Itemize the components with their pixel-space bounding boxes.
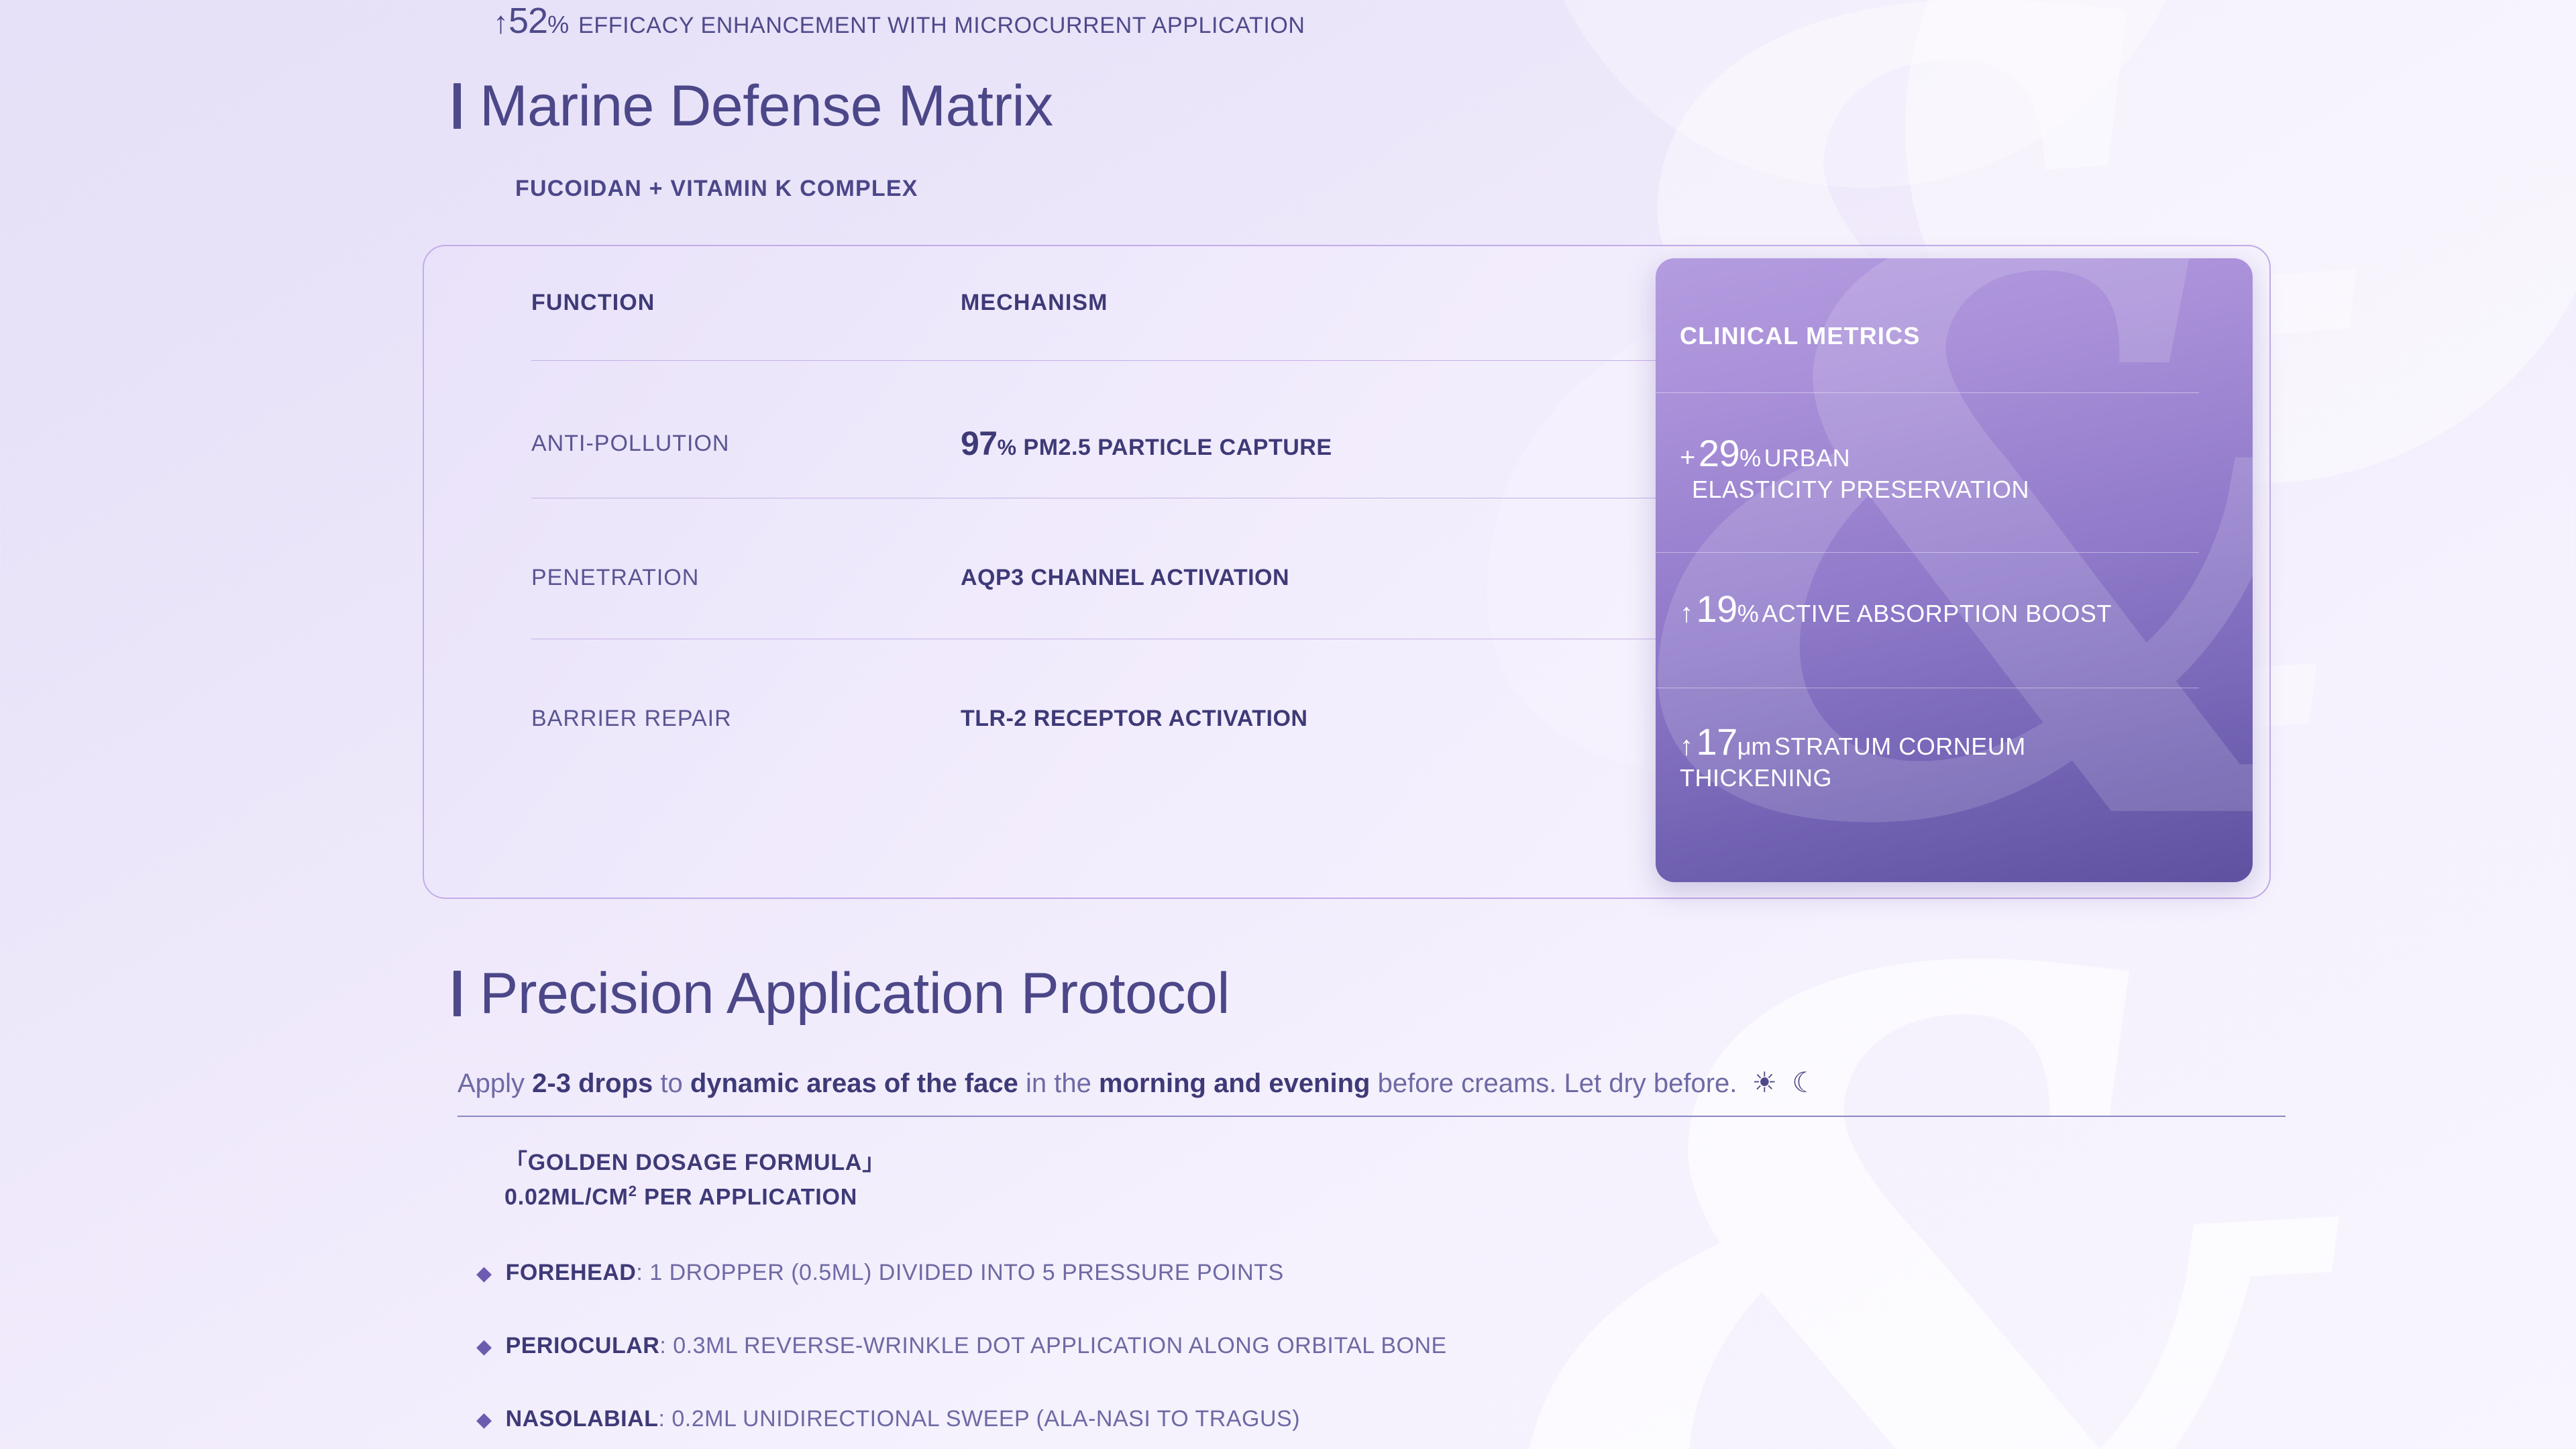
matrix-subtitle: FUCOIDAN + VITAMIN K COMPLEX	[515, 176, 918, 202]
instruction-part3: in the	[1018, 1069, 1099, 1098]
sun-icon: ☀	[1752, 1067, 1777, 1098]
list-item: ◆ FOREHEAD: 1 DROPPER (0.5ML) DIVIDED IN…	[476, 1260, 2288, 1286]
list-item: ◆ PERIOCULAR: 0.3ML REVERSE-WRINKLE DOT …	[476, 1333, 2288, 1359]
column-header-function: FUNCTION	[531, 290, 655, 315]
row-mechanism-text: PM2.5 PARTICLE CAPTURE	[1024, 435, 1332, 460]
diamond-bullet-icon: ◆	[476, 1264, 492, 1284]
metric-label-line2: THICKENING	[1680, 764, 2223, 792]
column-header-mechanism: MECHANISM	[961, 290, 1108, 315]
list-item-label: PERIOCULAR	[506, 1333, 660, 1358]
row-mechanism-value: 97	[961, 425, 998, 462]
row-function-label: PENETRATION	[531, 565, 699, 590]
metric-label: ACTIVE ABSORPTION BOOST	[1762, 600, 2112, 627]
metric-label: URBAN	[1764, 444, 1851, 472]
list-item-label: NASOLABIAL	[506, 1406, 659, 1432]
moon-icon: ☾	[1792, 1067, 1817, 1098]
list-item-text: : 0.3ML REVERSE-WRINKLE DOT APPLICATION …	[659, 1333, 1446, 1358]
metric-unit: %	[1737, 600, 1759, 627]
accent-bar-icon	[453, 83, 461, 129]
dosage-value-prefix: 0.02ML/CM	[504, 1184, 629, 1210]
instruction-bold-area: dynamic areas of the face	[690, 1069, 1018, 1098]
dosage-value-superscript: 2	[629, 1183, 637, 1199]
instruction-part4: before creams. Let dry before.	[1370, 1069, 1737, 1098]
panel-divider	[1656, 552, 2199, 553]
panel-divider	[1656, 688, 2199, 688]
metric-unit: μm	[1737, 733, 1772, 760]
top-efficacy-stat: ↑ 52 % EFFICACY ENHANCEMENT WITH MICROCU…	[493, 0, 1305, 42]
metric-label: STRATUM CORNEUM	[1774, 733, 2026, 760]
metric-value: 17	[1696, 720, 1737, 763]
matrix-title: Marine Defense Matrix	[480, 77, 1053, 135]
application-zone-list: ◆ FOREHEAD: 1 DROPPER (0.5ML) DIVIDED IN…	[476, 1260, 2288, 1449]
top-stat-unit: %	[547, 11, 569, 39]
protocol-instruction: Apply 2-3 drops to dynamic areas of the …	[458, 1065, 2286, 1117]
list-item-text: : 1 DROPPER (0.5ML) DIVIDED INTO 5 PRESS…	[636, 1260, 1283, 1285]
clinical-metrics-panel: & CLINICAL METRICS + 29% URBAN ELASTICIT…	[1656, 258, 2253, 882]
metric-value: 29	[1699, 432, 1739, 474]
metric-item: ↑ 19% ACTIVE ABSORPTION BOOST	[1680, 587, 2223, 631]
metric-label-line2: ELASTICITY PRESERVATION	[1692, 476, 2223, 504]
metric-sign-icon: ↑	[1680, 731, 1693, 761]
list-item: ◆ NASOLABIAL: 0.2ML UNIDIRECTIONAL SWEEP…	[476, 1406, 2288, 1432]
golden-dosage-formula: 「GOLDEN DOSAGE FORMULA」 0.02ML/CM2 PER A…	[504, 1146, 885, 1214]
row-mechanism-label: TLR-2 RECEPTOR ACTIVATION	[961, 706, 1307, 731]
accent-bar-icon	[453, 971, 461, 1016]
dosage-value-suffix: PER APPLICATION	[637, 1184, 857, 1210]
metric-item: + 29% URBAN ELASTICITY PRESERVATION	[1680, 431, 2223, 504]
matrix-section-heading: Marine Defense Matrix	[453, 77, 1053, 135]
row-mechanism-label: 97% PM2.5 PARTICLE CAPTURE	[961, 435, 1332, 460]
list-item-text: : 0.2ML UNIDIRECTIONAL SWEEP (ALA-NASI T…	[658, 1406, 1300, 1432]
row-function-label: BARRIER REPAIR	[531, 706, 732, 731]
protocol-title: Precision Application Protocol	[480, 965, 1230, 1022]
protocol-section-heading: Precision Application Protocol	[453, 965, 1230, 1022]
list-item-label: FOREHEAD	[506, 1260, 637, 1285]
metrics-panel-title: CLINICAL METRICS	[1680, 322, 1921, 350]
metric-item: ↑ 17μm STRATUM CORNEUM THICKENING	[1680, 720, 2223, 793]
diamond-bullet-icon: ◆	[476, 1410, 492, 1430]
metric-sign-icon: ↑	[1680, 598, 1693, 628]
dosage-value: 0.02ML/CM2 PER APPLICATION	[504, 1180, 885, 1214]
metric-sign-icon: +	[1680, 443, 1695, 472]
page-root: ↑ 52 % EFFICACY ENHANCEMENT WITH MICROCU…	[0, 0, 2576, 1449]
dosage-title: 「GOLDEN DOSAGE FORMULA」	[504, 1146, 885, 1180]
panel-divider	[1656, 392, 2199, 393]
row-mechanism-unit: %	[998, 435, 1017, 460]
instruction-bold-time: morning and evening	[1099, 1069, 1370, 1098]
top-stat-value: 52	[508, 0, 547, 42]
metric-unit: %	[1739, 444, 1761, 472]
instruction-part1: Apply	[458, 1069, 532, 1098]
top-stat-label: EFFICACY ENHANCEMENT WITH MICROCURRENT A…	[578, 13, 1305, 39]
row-function-label: ANTI-POLLUTION	[531, 431, 729, 456]
diamond-bullet-icon: ◆	[476, 1337, 492, 1357]
instruction-bold-dose: 2-3 drops	[532, 1069, 653, 1098]
instruction-part2: to	[653, 1069, 690, 1098]
metric-value: 19	[1696, 588, 1737, 630]
up-arrow-icon: ↑	[493, 7, 508, 38]
row-mechanism-label: AQP3 CHANNEL ACTIVATION	[961, 565, 1289, 590]
